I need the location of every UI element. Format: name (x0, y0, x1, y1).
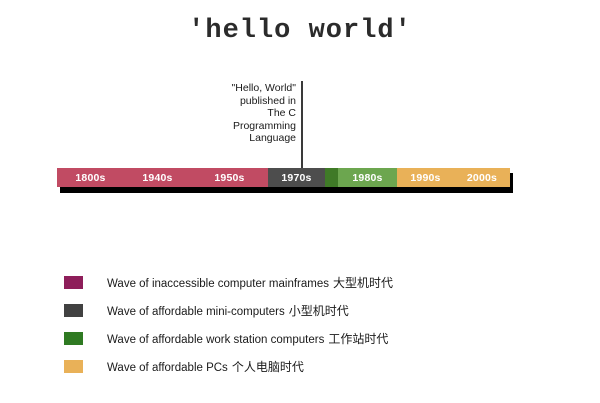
timeline-segment-1800s[interactable]: 1800s (57, 168, 124, 187)
legend-item[interactable]: Wave of affordable PCs个人电脑时代 (64, 352, 544, 380)
timeline: 1800s1940s1950s1970s1980s1990s2000s (57, 168, 513, 193)
timeline-segment-1990s[interactable]: 1990s (397, 168, 454, 187)
legend-color-swatch (64, 332, 83, 345)
legend-label-cjk: 个人电脑时代 (232, 360, 304, 374)
timeline-segment-divider[interactable] (325, 168, 338, 187)
legend-label-cjk: 大型机时代 (333, 276, 393, 290)
timeline-segment-label: 1990s (410, 172, 440, 184)
timeline-segment-label: 1800s (75, 172, 105, 184)
legend-label-en: Wave of affordable PCs (107, 362, 228, 374)
annotation-line: Programming (171, 120, 296, 133)
timeline-segment-label: 1950s (214, 172, 244, 184)
legend-color-swatch (64, 360, 83, 373)
legend-label: Wave of affordable work station computer… (107, 330, 388, 347)
timeline-bar: 1800s1940s1950s1970s1980s1990s2000s (57, 168, 510, 187)
annotation-line: published in (171, 95, 296, 108)
annotation-line: "Hello, World" (171, 82, 296, 95)
legend-item[interactable]: Wave of affordable work station computer… (64, 324, 544, 352)
timeline-segment-label: 2000s (467, 172, 497, 184)
timeline-segment-1940s[interactable]: 1940s (124, 168, 191, 187)
legend-label: Wave of affordable mini-computers小型机时代 (107, 302, 349, 319)
legend-label-en: Wave of inaccessible computer mainframes (107, 278, 329, 290)
legend: Wave of inaccessible computer mainframes… (64, 268, 544, 380)
timeline-segment-label: 1980s (352, 172, 382, 184)
legend-item[interactable]: Wave of inaccessible computer mainframes… (64, 268, 544, 296)
page-title: 'hello world' (0, 16, 600, 46)
legend-color-swatch (64, 304, 83, 317)
legend-label: Wave of inaccessible computer mainframes… (107, 274, 393, 291)
timeline-segment-label: 1940s (142, 172, 172, 184)
annotation-line: The C (171, 107, 296, 120)
annotation-line: Language (171, 132, 296, 145)
legend-label: Wave of affordable PCs个人电脑时代 (107, 358, 304, 375)
timeline-segment-1980s[interactable]: 1980s (338, 168, 397, 187)
legend-label-cjk: 小型机时代 (289, 304, 349, 318)
legend-label-en: Wave of affordable mini-computers (107, 306, 285, 318)
legend-label-cjk: 工作站时代 (328, 332, 388, 346)
legend-item[interactable]: Wave of affordable mini-computers小型机时代 (64, 296, 544, 324)
annotation-callout: "Hello, World" published in The C Progra… (171, 82, 296, 145)
timeline-segment-1950s[interactable]: 1950s (191, 168, 268, 187)
timeline-segment-1970s[interactable]: 1970s (268, 168, 325, 187)
legend-label-en: Wave of affordable work station computer… (107, 334, 324, 346)
timeline-segment-label: 1970s (281, 172, 311, 184)
timeline-segment-2000s[interactable]: 2000s (454, 168, 510, 187)
legend-color-swatch (64, 276, 83, 289)
